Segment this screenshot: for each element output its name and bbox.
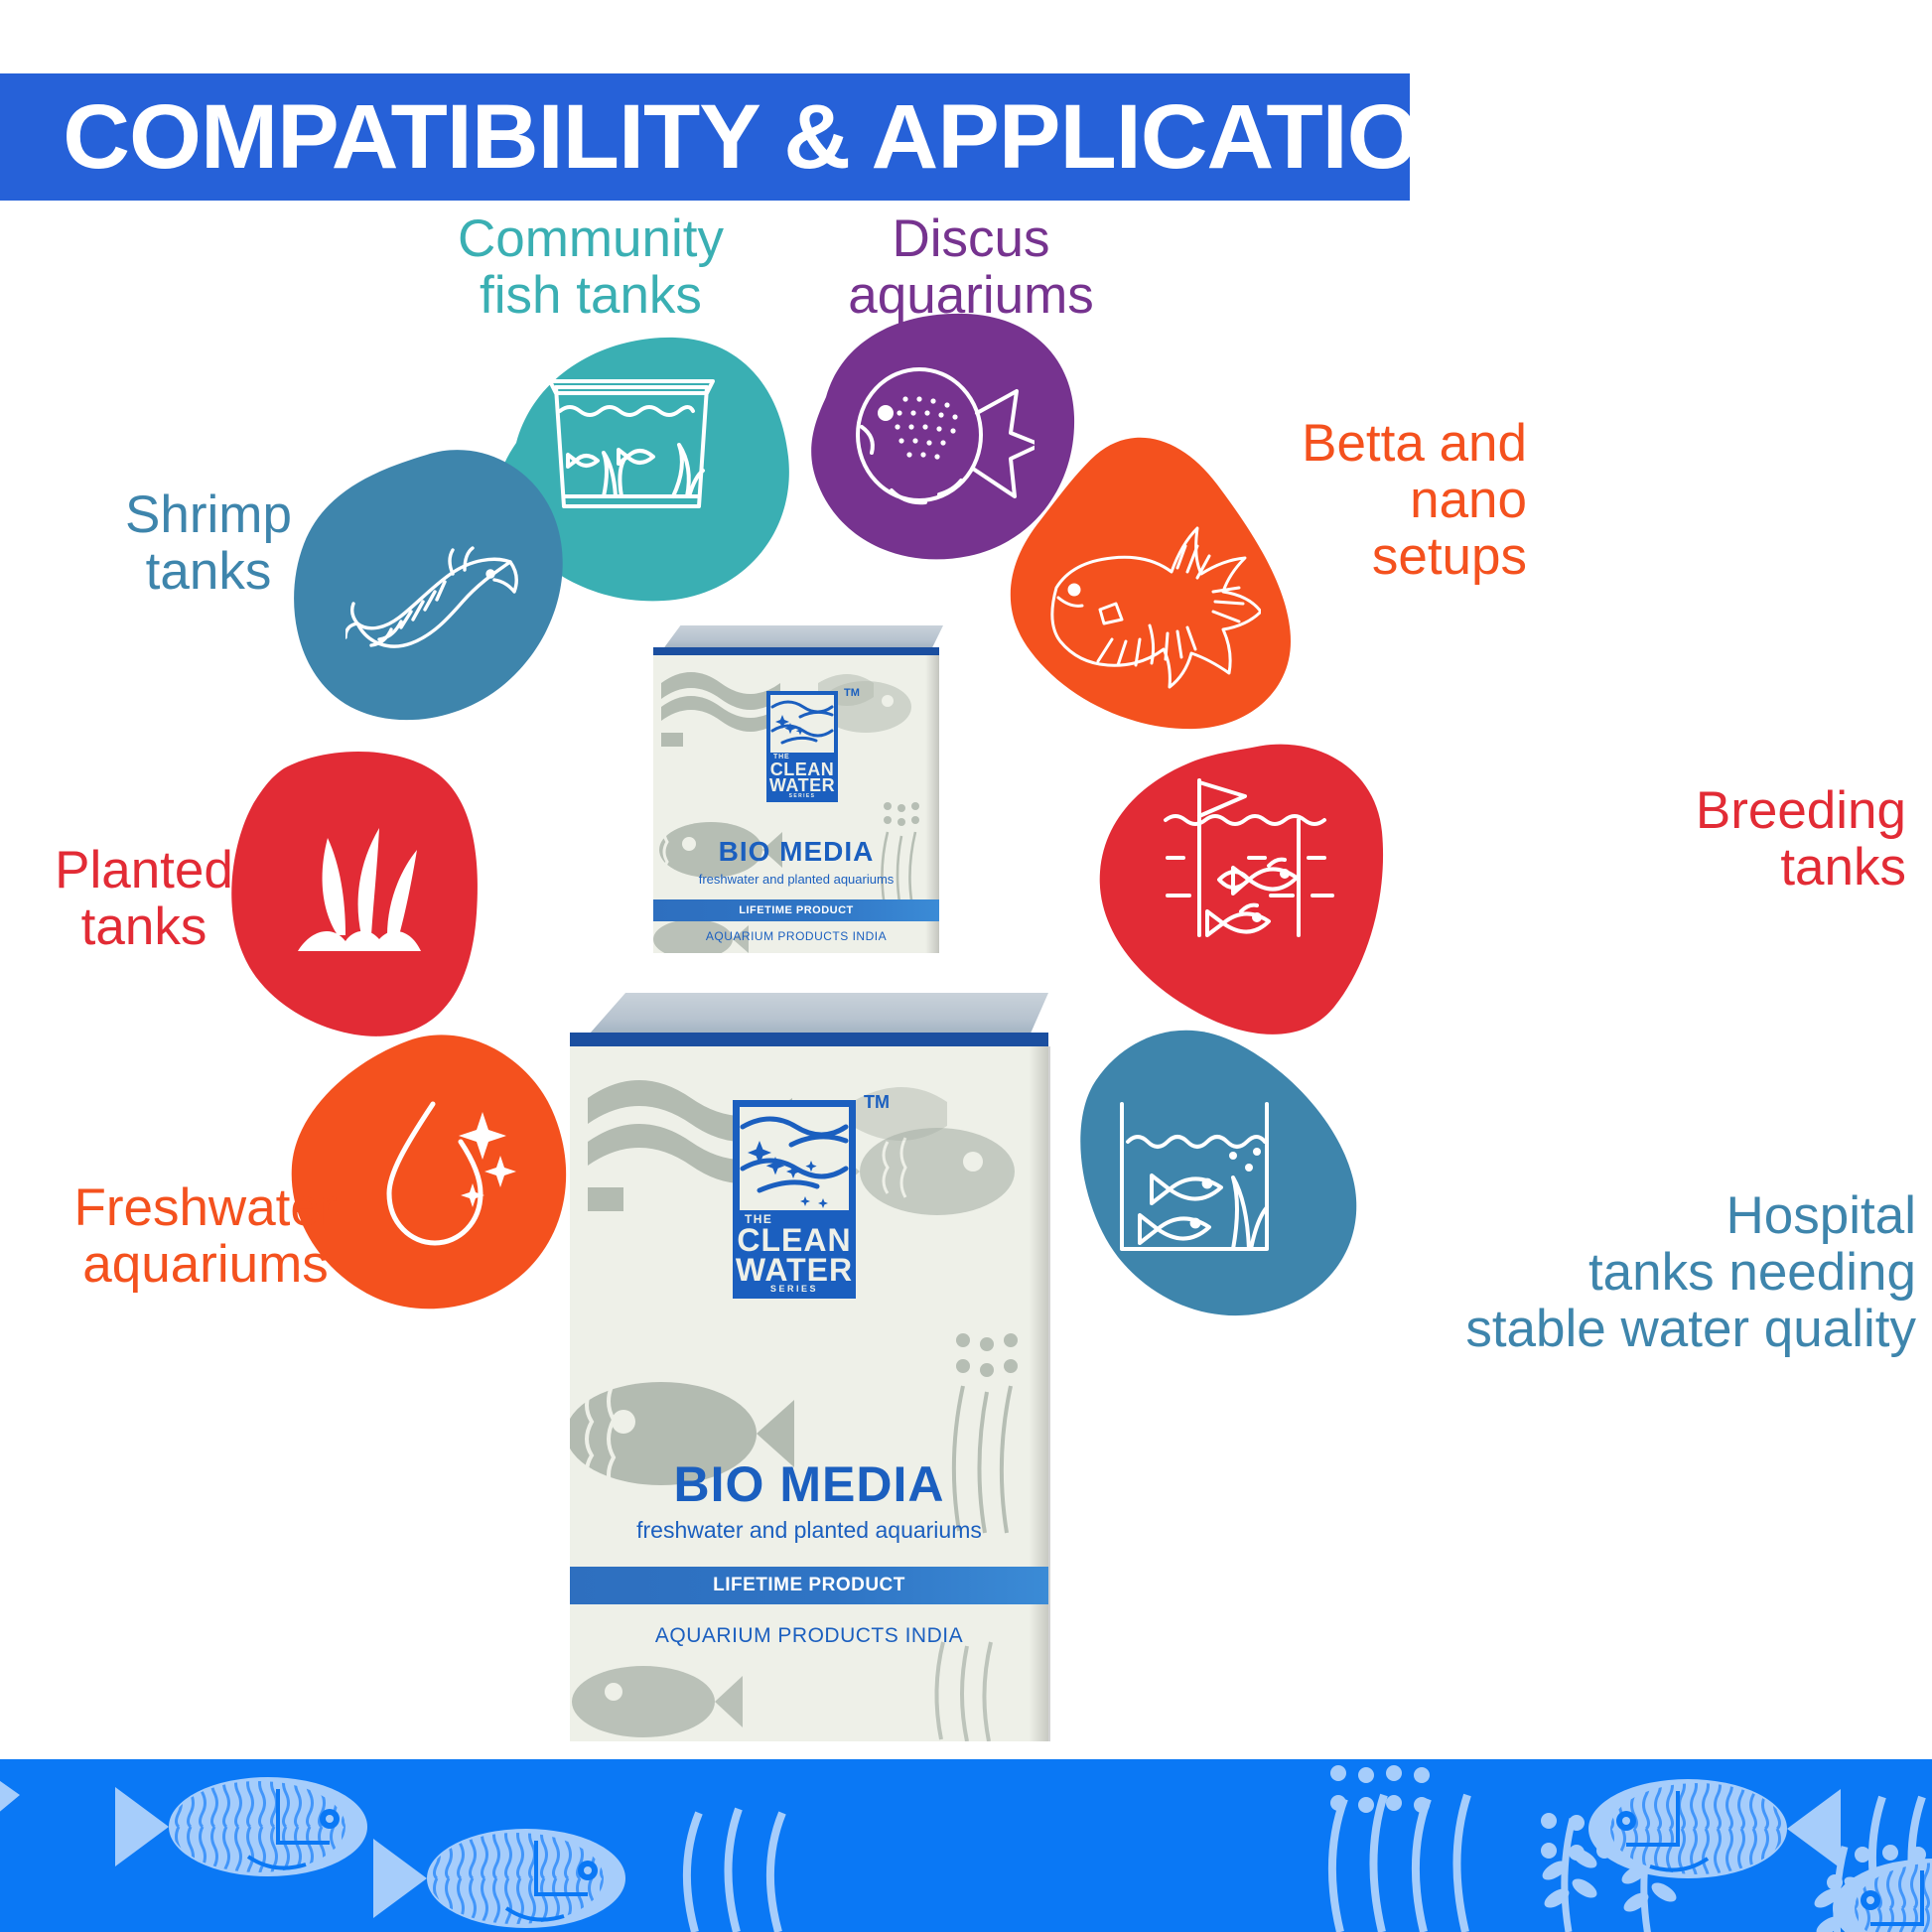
label-shrimp-tanks: Shrimp tanks: [60, 486, 357, 600]
product-box-large: THE CLEAN WATER SERIES TM BIO MEDIA fres…: [544, 993, 1050, 1757]
lifetime-product-band-large: LIFETIME PRODUCT: [570, 1567, 1048, 1604]
trademark-symbol-small: TM: [844, 687, 860, 699]
bottom-decorative-border: [0, 1759, 1932, 1932]
page-title-banner: COMPATIBILITY & APPLICATION: [0, 73, 1410, 201]
product-name-large: BIO MEDIA: [570, 1455, 1048, 1513]
product-subtitle-small: freshwater and planted aquariums: [653, 872, 939, 887]
box-lid-large: [568, 993, 1048, 1036]
label-discus-aquariums: Discus aquariums: [762, 210, 1179, 324]
label-freshwater-aquariums: Freshwater aquariums: [26, 1179, 385, 1293]
logo-clean-large: CLEAN: [737, 1225, 851, 1255]
logo-wordmark-small: THE CLEAN WATER SERIES: [770, 753, 834, 802]
label-breeding-tanks: Breeding tanks: [1291, 782, 1906, 896]
label-planted-tanks: Planted tanks: [0, 842, 288, 955]
logo-wordmark-large: THE CLEAN WATER SERIES: [740, 1210, 849, 1299]
brand-logo-small: THE CLEAN WATER SERIES: [766, 691, 838, 802]
product-name-small: BIO MEDIA: [653, 836, 939, 868]
box-lid-small: [651, 625, 943, 649]
product-footer-small: AQUARIUM PRODUCTS INDIA: [653, 929, 939, 943]
brand-logo-large: THE CLEAN WATER SERIES: [733, 1100, 856, 1299]
box-lid-edge-large: [570, 1033, 1048, 1047]
logo-series-small: SERIES: [789, 794, 816, 799]
trademark-symbol-large: TM: [864, 1092, 890, 1113]
logo-water-large: WATER: [736, 1255, 853, 1285]
logo-wave-art-large: [740, 1107, 849, 1210]
product-subtitle-large: freshwater and planted aquariums: [570, 1517, 1048, 1544]
page-title: COMPATIBILITY & APPLICATION: [0, 85, 1484, 190]
product-footer-large: AQUARIUM PRODUCTS INDIA: [570, 1624, 1048, 1648]
lifetime-product-band-small: LIFETIME PRODUCT: [653, 899, 939, 921]
logo-water-small: WATER: [769, 777, 835, 794]
logo-wave-art-small: [770, 695, 834, 753]
label-community-fish-tanks: Community fish tanks: [377, 210, 804, 324]
label-betta-nano-setups: Betta and nano setups: [1152, 415, 1527, 586]
logo-series-large: SERIES: [770, 1285, 818, 1293]
label-hospital-tanks: Hospital tanks needing stable water qual…: [1052, 1187, 1916, 1358]
product-box-small: THE CLEAN WATER SERIES TM BIO MEDIA fres…: [635, 625, 943, 953]
